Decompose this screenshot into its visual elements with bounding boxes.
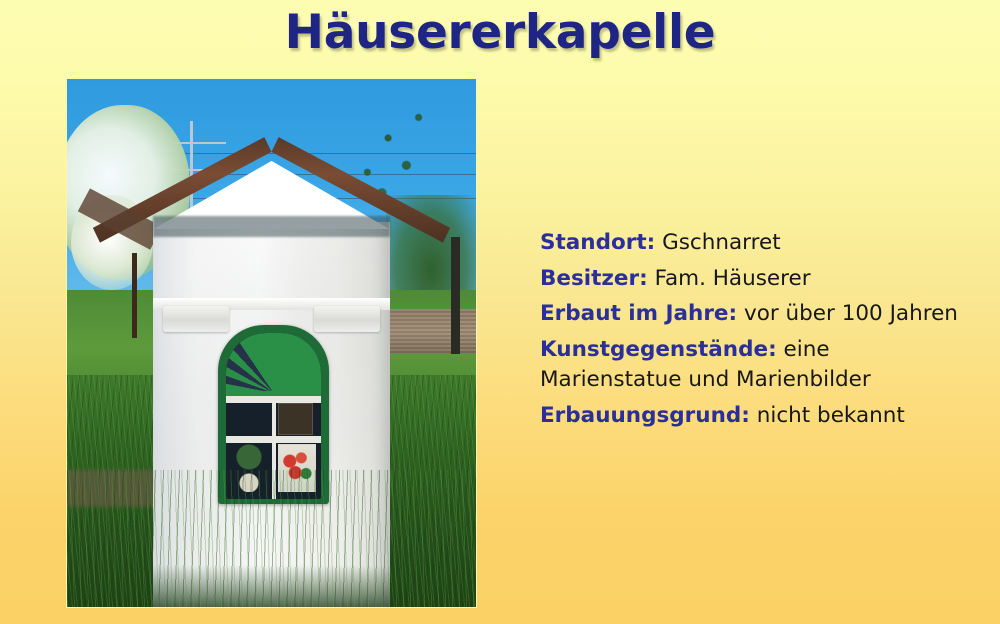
tree-trunk <box>132 253 137 337</box>
fact-label-erbaut-im-jahre: Erbaut im Jahre: <box>540 301 737 326</box>
fact-label-standort: Standort: <box>540 230 655 255</box>
fact-standort: Standort: Gschnarret <box>540 228 970 259</box>
fact-value-standort: Gschnarret <box>662 230 781 255</box>
chapel-facts-list: Standort: Gschnarret Besitzer: Fam. Häus… <box>540 228 970 436</box>
stucco-capital-right <box>314 306 379 332</box>
fact-besitzer: Besitzer: Fam. Häuserer <box>540 264 970 295</box>
fact-erbaut-im-jahre: Erbaut im Jahre: vor über 100 Jahren <box>540 299 970 330</box>
fact-label-kunstgegenstaende: Kunstgegenstände: <box>540 337 777 362</box>
chapel-photo <box>66 78 477 608</box>
fact-label-besitzer: Besitzer: <box>540 266 648 291</box>
slide-canvas: Häusererkapelle <box>0 0 1000 624</box>
fact-value-erbaut-im-jahre: vor über 100 Jahren <box>744 301 958 326</box>
chapel-photo-image <box>67 79 476 607</box>
fact-value-besitzer: Fam. Häuserer <box>655 266 811 291</box>
fact-kunstgegenstaende: Kunstgegenstände: eine Marienstatue und … <box>540 335 970 396</box>
window-fanlight <box>226 333 321 392</box>
fact-label-erbauungsgrund: Erbauungsgrund: <box>540 403 750 428</box>
interior-framed-picture <box>278 403 312 435</box>
page-title: Häusererkapelle <box>0 5 1000 60</box>
fact-erbauungsgrund: Erbauungsgrund: nicht bekannt <box>540 401 970 432</box>
grass-blades-overlay <box>67 470 476 607</box>
stucco-capital-left <box>163 306 228 332</box>
fact-value-erbauungsgrund: nicht bekannt <box>757 403 905 428</box>
fence-post <box>451 237 460 353</box>
